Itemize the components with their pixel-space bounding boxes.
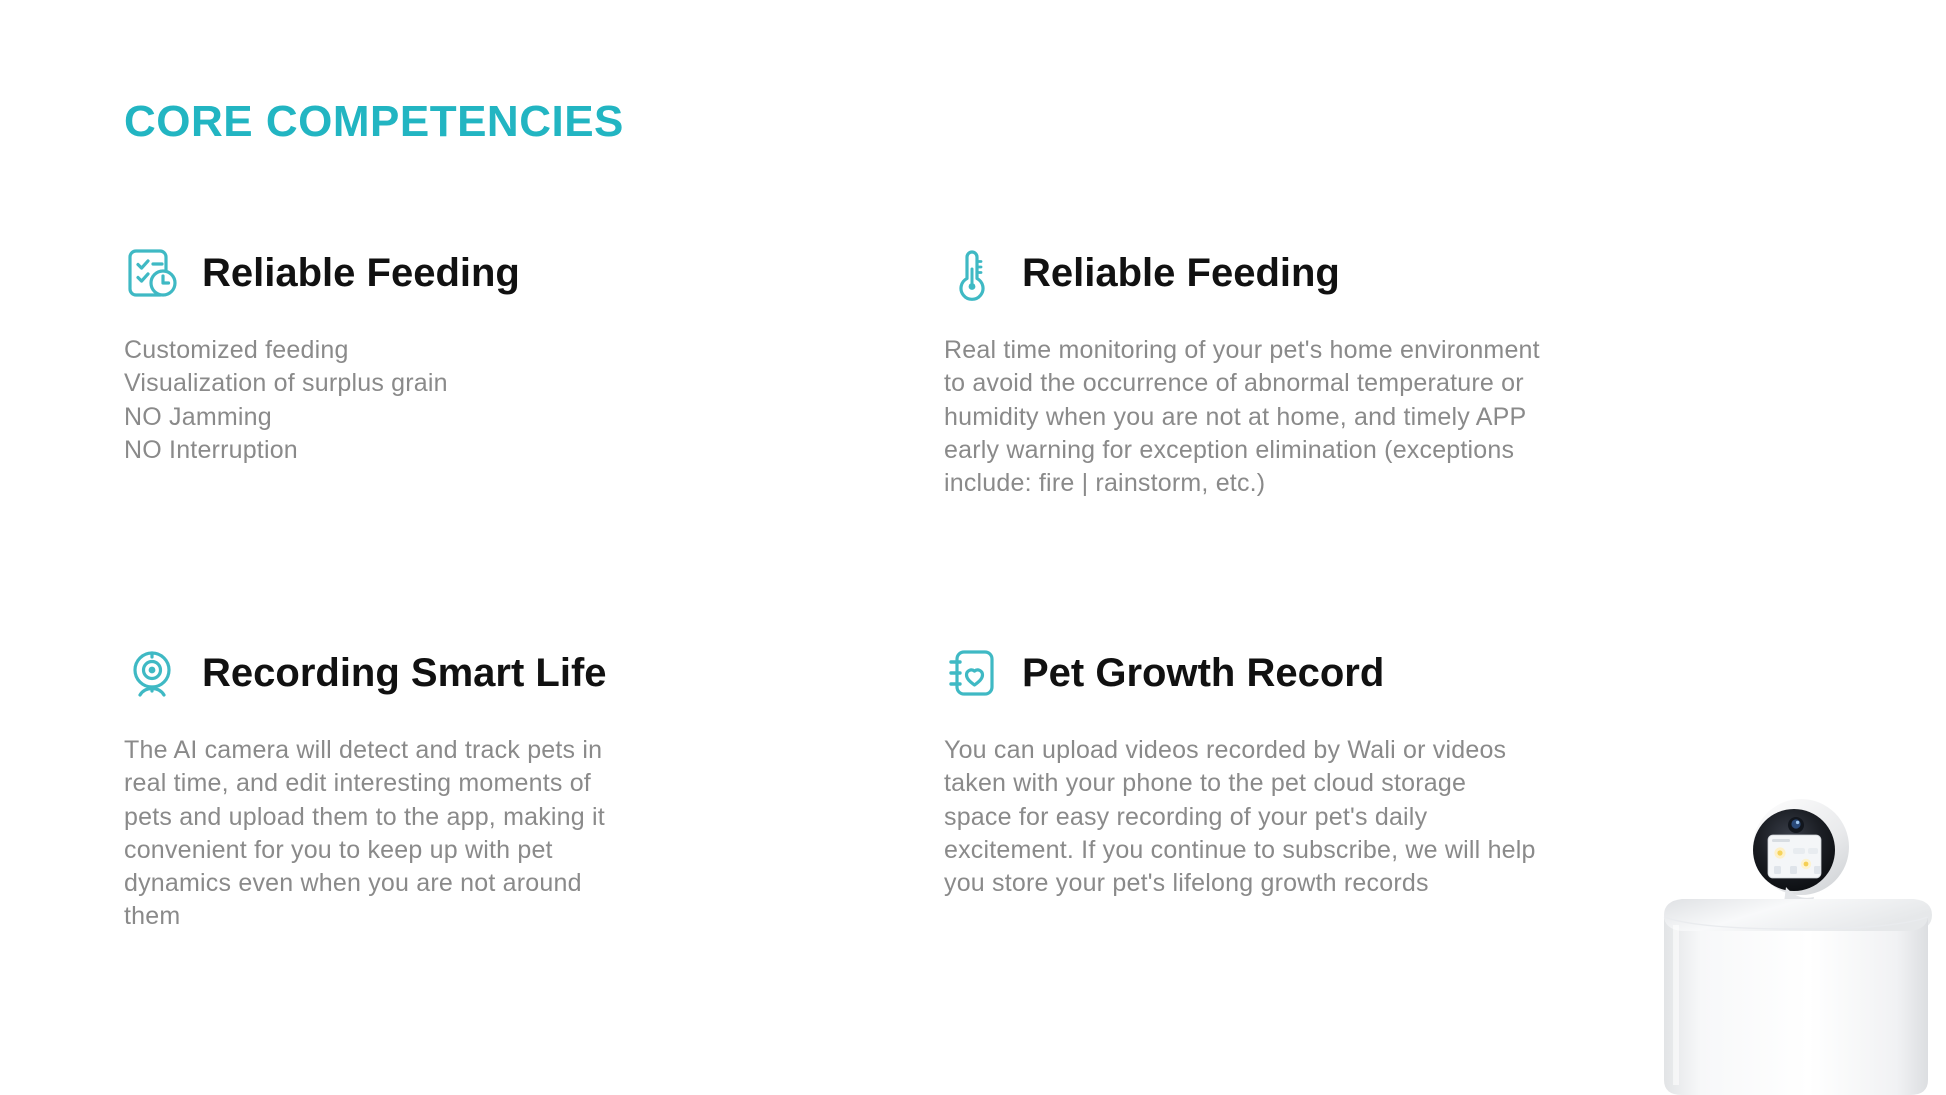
feature-grid: Reliable Feeding Customized feeding Visu… (124, 238, 1774, 934)
description-line: Customized feeding (124, 334, 764, 367)
description-line: excitement. If you continue to subscribe… (944, 834, 1734, 867)
feature-title: Recording Smart Life (202, 652, 607, 694)
feature-card-reliable-feeding-schedule: Reliable Feeding Customized feeding Visu… (124, 238, 824, 638)
feature-card-recording-smart-life: Recording Smart Life The AI camera will … (124, 638, 824, 934)
description-line: convenient for you to keep up with pet (124, 834, 764, 867)
feature-header: Pet Growth Record (944, 638, 1774, 708)
description-line: dynamics even when you are not around (124, 867, 764, 900)
description-line: include: fire | rainstorm, etc.) (944, 467, 1734, 500)
feature-description: You can upload videos recorded by Wali o… (944, 734, 1734, 900)
feature-title: Reliable Feeding (1022, 252, 1340, 294)
description-line: humidity when you are not at home, and t… (944, 401, 1734, 434)
description-line: Visualization of surplus grain (124, 367, 764, 400)
notebook-heart-icon (944, 645, 1000, 701)
description-line: you store your pet's lifelong growth rec… (944, 867, 1734, 900)
description-line: NO Jamming (124, 401, 764, 434)
webcam-icon (124, 645, 180, 701)
description-line: to avoid the occurrence of abnormal temp… (944, 367, 1734, 400)
feature-description: Real time monitoring of your pet's home … (944, 334, 1734, 500)
feature-description: Customized feeding Visualization of surp… (124, 334, 764, 467)
feature-header: Recording Smart Life (124, 638, 824, 708)
feature-header: Reliable Feeding (944, 238, 1774, 308)
feature-title: Reliable Feeding (202, 252, 520, 294)
thermometer-icon (944, 245, 1000, 301)
feature-header: Reliable Feeding (124, 238, 824, 308)
description-line: NO Interruption (124, 434, 764, 467)
feature-card-environment-monitoring: Reliable Feeding Real time monitoring of… (944, 238, 1774, 638)
feature-description: The AI camera will detect and track pets… (124, 734, 764, 934)
description-line: taken with your phone to the pet cloud s… (944, 767, 1734, 800)
description-line: space for easy recording of your pet's d… (944, 801, 1734, 834)
feature-title: Pet Growth Record (1022, 652, 1384, 694)
description-line: real time, and edit interesting moments … (124, 767, 764, 800)
page-title: CORE COMPETENCIES (124, 98, 624, 146)
feature-card-pet-growth-record: Pet Growth Record You can upload videos … (944, 638, 1774, 934)
slide-canvas: CORE COMPETENCIES Reliable Feeding (0, 0, 1946, 1095)
checklist-clock-icon (124, 245, 180, 301)
description-line: early warning for exception elimination … (944, 434, 1734, 467)
description-line: them (124, 900, 764, 933)
description-line: pets and upload them to the app, making … (124, 801, 764, 834)
description-line: The AI camera will detect and track pets… (124, 734, 764, 767)
description-line: Real time monitoring of your pet's home … (944, 334, 1734, 367)
description-line: You can upload videos recorded by Wali o… (944, 734, 1734, 767)
